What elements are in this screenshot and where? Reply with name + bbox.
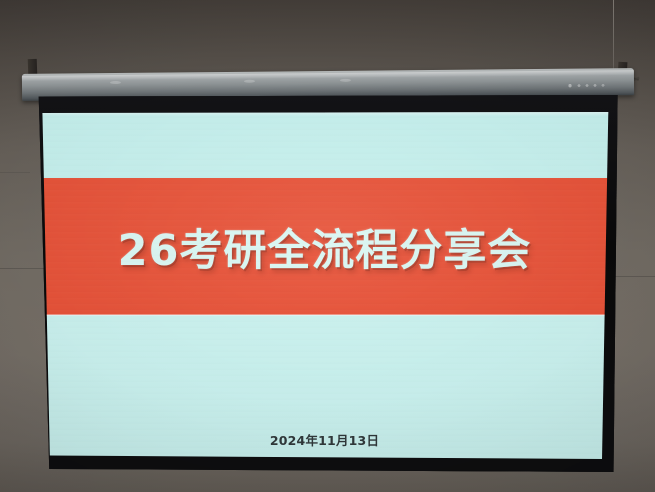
slide-band-top <box>39 112 610 178</box>
wall-seam-right <box>615 276 655 277</box>
wall-seam-upper-left <box>0 172 30 173</box>
roller-screw <box>110 81 121 84</box>
slide-date: 2024年11月13日 <box>39 430 610 449</box>
roller-screw <box>244 80 255 83</box>
projected-slide: 26考研全流程分享会 2024年11月13日 <box>39 112 610 459</box>
roller-brand-mark-icon <box>566 82 610 89</box>
photo-scene: 26考研全流程分享会 2024年11月13日 <box>0 0 655 492</box>
roller-screw <box>340 79 351 82</box>
slide-title: 26考研全流程分享会 <box>39 230 610 273</box>
